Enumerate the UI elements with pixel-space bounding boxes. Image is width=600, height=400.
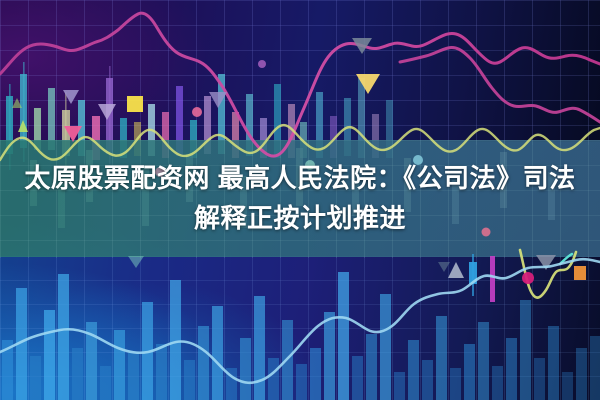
banner-image: 太原股票配资网 最高人民法院：《公司法》司法 解释正按计划推进 [0, 0, 600, 400]
headline-text: 太原股票配资网 最高人民法院：《公司法》司法 解释正按计划推进 [0, 158, 600, 238]
